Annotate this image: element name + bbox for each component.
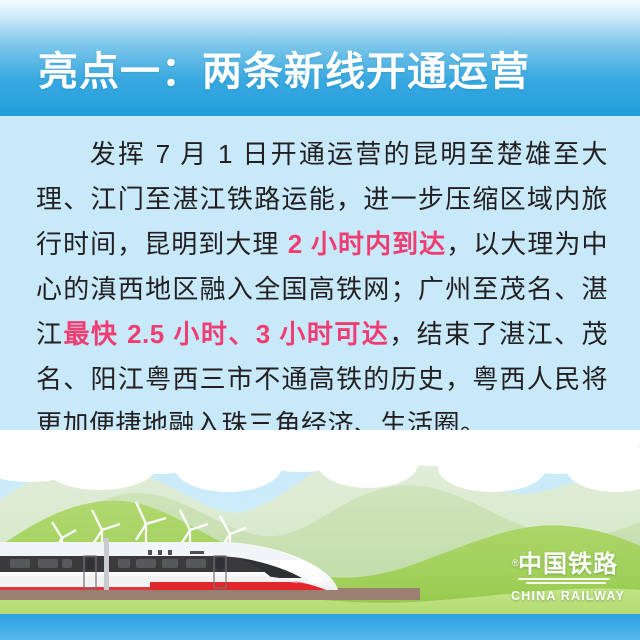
logo-chinese-label: 中国铁路 [518, 551, 618, 578]
train-car-gap [104, 538, 109, 590]
page-title: 亮点一：两条新线开通运营 [38, 50, 530, 94]
china-railway-logo: ®中国铁路 CHINA RAILWAY [508, 552, 628, 614]
header-banner: 亮点一：两条新线开通运营 [0, 0, 640, 116]
registered-mark-icon: ® [512, 550, 520, 576]
logo-swoosh-icon [508, 578, 628, 588]
train-headlight [309, 577, 323, 584]
article-body: 发挥 7 月 1 日开通运营的昆明至楚雄至大理、江门至湛江铁路运能，进一步压缩区… [36, 132, 608, 447]
scenery-illustration: ®中国铁路 CHINA RAILWAY [0, 430, 640, 640]
highlight-segment-2: 最快 2.5 小时、3 小时可达 [63, 319, 389, 349]
logo-english-label: CHINA RAILWAY [508, 588, 628, 604]
infographic-poster: 亮点一：两条新线开通运营 发挥 7 月 1 日开通运营的昆明至楚雄至大理、江门至… [0, 0, 640, 640]
logo-chinese-text: ®中国铁路 [508, 552, 628, 578]
train-stripe-front [150, 582, 326, 590]
bottom-blue-strip [0, 614, 640, 640]
highlight-segment-1: 2 小时内到达 [288, 229, 447, 259]
